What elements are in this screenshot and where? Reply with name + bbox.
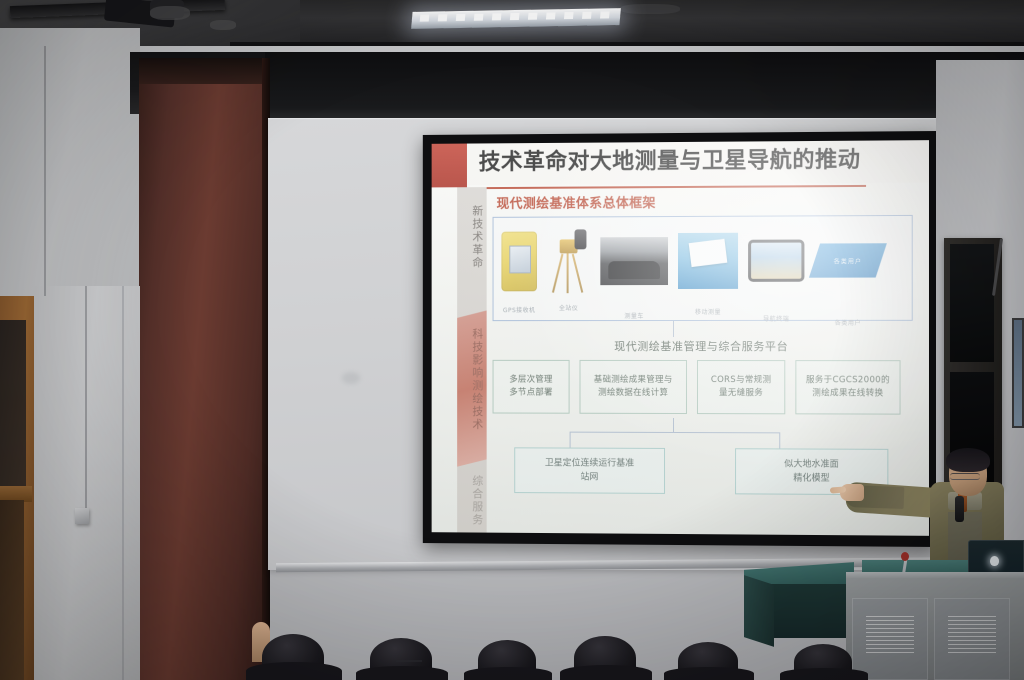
- green-desk-side-panel: [744, 575, 774, 647]
- slide-title-accent-block: [432, 144, 467, 188]
- slide-title: 技术革命对大地测量与卫星导航的推动: [479, 144, 921, 179]
- audience-shoulder-5: [664, 667, 754, 680]
- sidebar-label-band: 科技影响测绘技术: [459, 328, 485, 431]
- image-strip-panel: GPS接收机 全站仪: [493, 215, 913, 321]
- wall-conduit: [85, 286, 87, 508]
- survey-vehicle-photo: [600, 237, 668, 285]
- door-panel-lower: [0, 500, 24, 680]
- foundation-box-2-line1: 似大地水准面: [784, 459, 838, 469]
- foundation-box-2-line2: 精化模型: [793, 474, 829, 484]
- foundation-box-1-line1: 卫星定位连续运行基准: [545, 458, 634, 468]
- audience-shoulder-3: [464, 667, 552, 680]
- connector-mid: [673, 418, 674, 432]
- thumb-caption: 导航终端: [748, 314, 804, 323]
- lecture-hall-photo: 技术革命对大地测量与卫星导航的推动 新技术革命 科技影响测绘技术 综合服务 现代…: [0, 0, 1024, 680]
- survey-instrument-icon: [575, 229, 587, 249]
- fluorescent-light-icon: [411, 8, 621, 29]
- service-box-4-line1: 服务于CGCS2000的: [806, 375, 890, 385]
- podium-panel-left: [852, 598, 928, 680]
- service-box-row: 多层次管理 多节点部署 基础测绘成果管理与 测绘数据在线计算 CORS与常规测: [493, 360, 915, 415]
- user-group-parallelogram: 各类用户: [809, 243, 887, 277]
- slide-sidebar-tab: 新技术革命 科技影响测绘技术 综合服务: [457, 187, 486, 533]
- presenter-hair: [946, 448, 990, 472]
- platform-label: 现代测绘基准管理与综合服务平台: [493, 338, 913, 354]
- audience-shoulder-6: [780, 668, 868, 680]
- thumb-navigation-device: 导航终端: [748, 240, 804, 282]
- connector-horizontal: [570, 432, 780, 434]
- audience-shoulder-1: [246, 662, 342, 680]
- thumb-caption: 移动测量: [678, 307, 738, 316]
- audience-shoulder-2: [356, 666, 448, 680]
- sidebar-label-bottom: 综合服务: [459, 475, 485, 527]
- gps-receiver-icon: [501, 232, 537, 292]
- thumb-survey-vehicle: 测量车: [600, 237, 668, 285]
- podium-panel-right: [934, 598, 1010, 680]
- thumb-caption: 全站仪: [547, 303, 591, 312]
- door-panel-upper: [0, 320, 26, 490]
- navigation-device-icon: [748, 240, 804, 282]
- thumb-total-station: 全站仪: [547, 229, 591, 293]
- presentation-slide: 技术革命对大地测量与卫星导航的推动 新技术革命 科技影响测绘技术 综合服务 现代…: [432, 140, 929, 536]
- wall-column: [34, 286, 140, 680]
- brown-pillar: [139, 58, 269, 680]
- service-box-3: CORS与常规测 量无缝服务: [697, 360, 785, 414]
- service-box-2: 基础测绘成果管理与 测绘数据在线计算: [580, 360, 687, 414]
- service-box-1-line2: 多节点部署: [509, 388, 552, 398]
- mobile-mapping-van-photo: [678, 233, 738, 289]
- thumb-mobile-mapping-van: 移动测量: [678, 233, 738, 289]
- service-box-2-line1: 基础测绘成果管理与: [594, 375, 673, 385]
- slide-subtitle: 现代测绘基准体系总体框架: [496, 192, 655, 212]
- wall-outlet-box: [75, 508, 89, 524]
- service-box-1: 多层次管理 多节点部署: [493, 360, 570, 414]
- service-box-3-line1: CORS与常规测: [711, 375, 772, 385]
- connector-top: [673, 321, 674, 337]
- connector-left-drop: [570, 432, 571, 448]
- service-box-4: 服务于CGCS2000的 测绘成果在线转换: [795, 360, 900, 415]
- thumb-caption: GPS接收机: [501, 305, 537, 314]
- service-box-3-line2: 量无缝服务: [719, 388, 763, 398]
- audience-shoulder-4: [560, 665, 652, 680]
- connector-right-drop: [779, 432, 780, 448]
- service-box-4-line2: 测绘成果在线转换: [812, 388, 883, 398]
- thumb-caption: 测量车: [600, 311, 668, 320]
- projection-screen: 技术革命对大地测量与卫星导航的推动 新技术革命 科技影响测绘技术 综合服务 现代…: [432, 140, 929, 536]
- presenter-glasses-icon: [950, 473, 980, 480]
- green-desk-underside: [760, 584, 856, 638]
- microphone-head-icon: [901, 552, 909, 561]
- slide-title-underline: [477, 185, 866, 189]
- service-box-1-line1: 多层次管理: [509, 375, 552, 385]
- sidebar-label-top: 新技术革命: [459, 205, 485, 270]
- image-strip-row: GPS接收机 全站仪: [501, 224, 903, 297]
- presenter-pointing-finger: [830, 486, 846, 493]
- thumb-caption: 各类用户: [815, 318, 882, 327]
- user-group-label: 各类用户: [815, 243, 882, 277]
- framed-picture: [1012, 318, 1024, 428]
- wall-seam: [44, 46, 46, 296]
- thumb-gps-receiver: GPS接收机: [501, 232, 537, 292]
- foundation-box-cors-network: 卫星定位连续运行基准 站网: [514, 447, 665, 494]
- audience-glasses-icon: [396, 660, 422, 664]
- tripod-icon: [547, 229, 591, 293]
- service-box-2-line2: 测绘数据在线计算: [598, 388, 668, 398]
- pillar-top-cap: [139, 58, 269, 84]
- window-pane-upper: [950, 244, 994, 362]
- apple-logo-icon: [990, 556, 999, 566]
- thumb-user-group: 各类用户 各类用户: [815, 243, 882, 277]
- handheld-microphone-icon: [955, 496, 964, 522]
- wall-conduit-secondary: [122, 286, 124, 680]
- foundation-box-1-line2: 站网: [580, 473, 598, 483]
